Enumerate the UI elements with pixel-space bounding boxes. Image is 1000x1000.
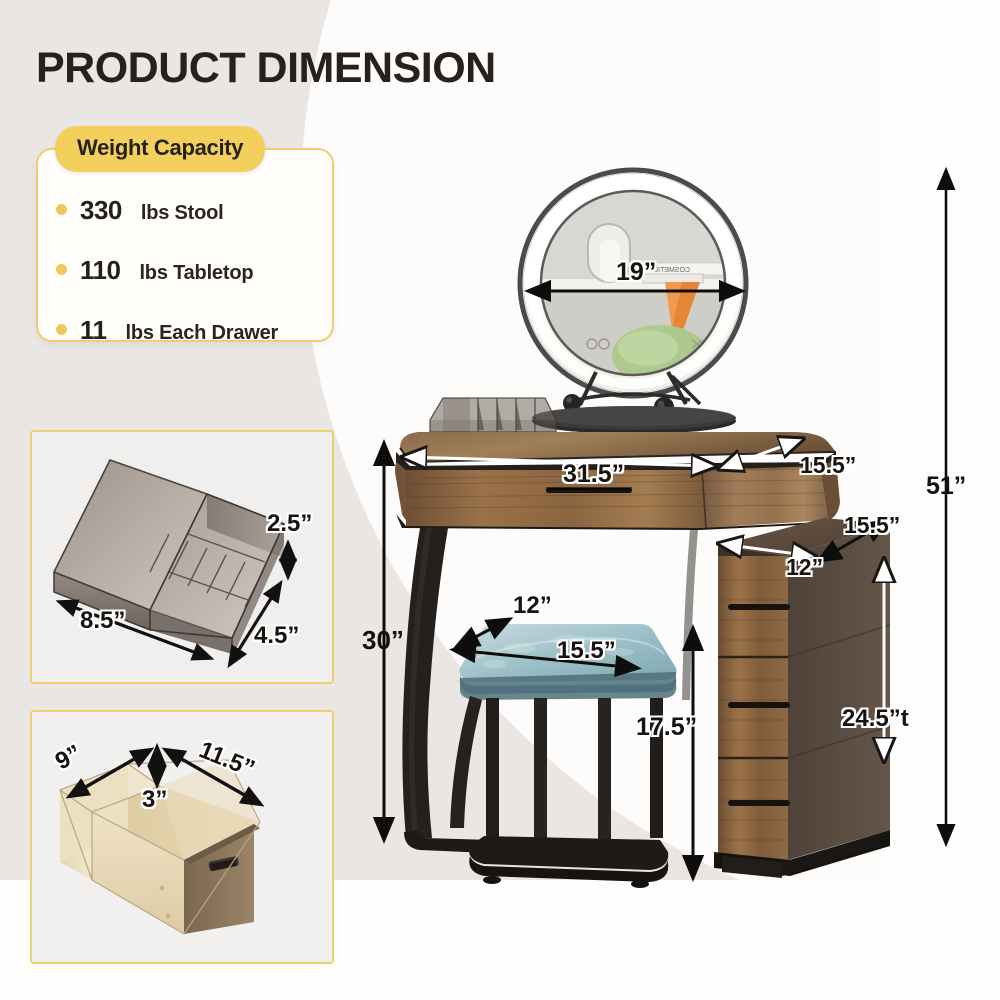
label-desk-height: 30” bbox=[362, 625, 404, 656]
label-cabinet-width: 12” bbox=[786, 554, 823, 581]
drawer-dim-height: 3” bbox=[142, 786, 167, 814]
label-mirror-diameter: 19” bbox=[616, 258, 656, 287]
desktop-organizer-on-desk bbox=[430, 398, 556, 432]
label-desktop-depth: 15.5” bbox=[800, 452, 856, 479]
label-cabinet-height: 24.5”t bbox=[842, 705, 909, 733]
organizer-dim-depth: 4.5” bbox=[254, 622, 299, 650]
label-stool-height: 17.5” bbox=[636, 713, 697, 742]
led-mirror: COSMETIC bbox=[520, 170, 746, 434]
label-stool-depth: 12” bbox=[513, 592, 552, 620]
organizer-dim-height: 2.5” bbox=[267, 510, 312, 538]
label-overall-height: 51” bbox=[926, 472, 966, 501]
organizer-dim-length: 8.5” bbox=[80, 607, 125, 635]
vanity-set-illustration: COSMETIC bbox=[0, 0, 1000, 1000]
label-cabinet-depth: 15.5” bbox=[844, 512, 900, 539]
label-desktop-width: 31.5” bbox=[563, 460, 624, 489]
svg-text:COSMETIC: COSMETIC bbox=[653, 267, 690, 274]
label-stool-width: 15.5” bbox=[557, 637, 616, 665]
